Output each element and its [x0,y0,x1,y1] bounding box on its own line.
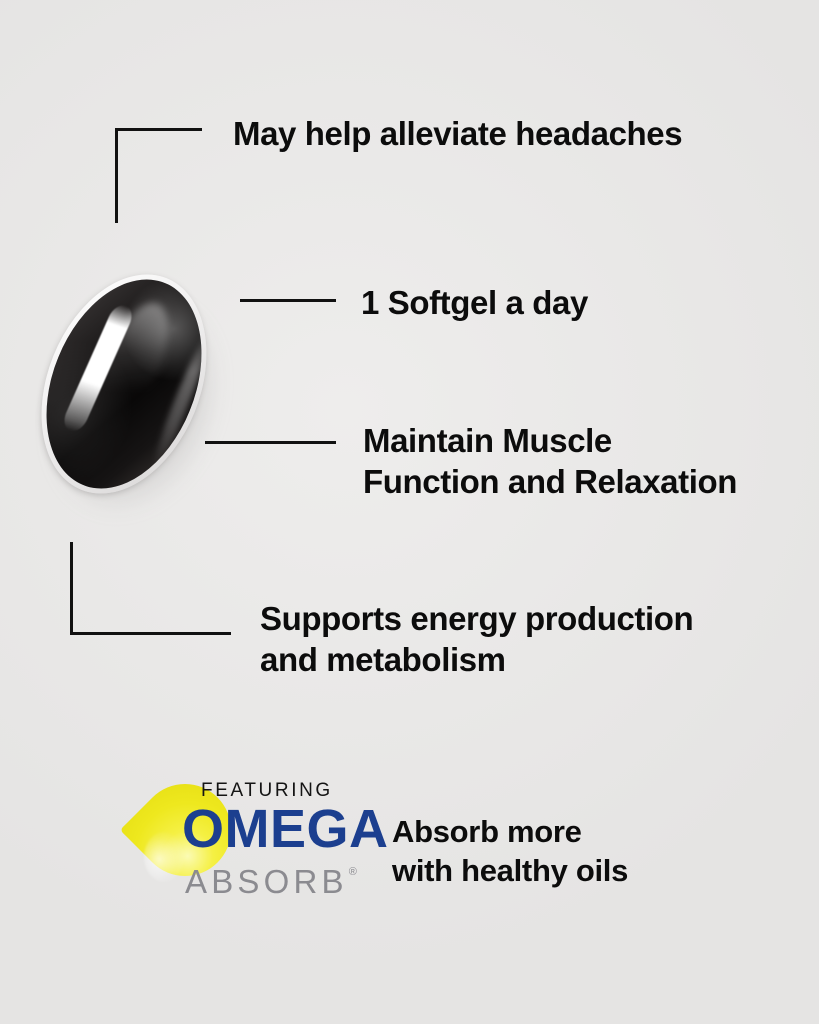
droplet-sheen [144,832,184,882]
leader-line-headaches-vertical [115,128,118,223]
softgel-capsule-image [38,262,218,510]
infographic-canvas: May help alleviate headaches 1 Softgel a… [0,0,819,1024]
registered-trademark-icon: ® [349,867,357,878]
logo-brand-secondary: ABSORB [185,865,348,898]
logo-brand-primary: OMEGA [182,802,389,856]
leader-line-muscle [205,441,336,444]
leader-line-headaches-horizontal [115,128,202,131]
logo-caption-text: Absorb more with healthy oils [392,812,628,890]
leader-line-energy-horizontal [70,632,231,635]
benefit-text-muscle: Maintain Muscle Function and Relaxation [363,420,793,502]
logo-brand-secondary-wrap: ABSORB ® [185,865,357,898]
leader-line-energy-vertical [70,542,73,635]
benefit-text-dosage: 1 Softgel a day [361,282,741,323]
benefit-text-energy: Supports energy production and metabolis… [260,598,760,680]
omega-absorb-logo: FEATURING OMEGA ABSORB ® [128,772,378,910]
leader-line-dosage [240,299,336,302]
benefit-text-headaches: May help alleviate headaches [233,113,753,154]
